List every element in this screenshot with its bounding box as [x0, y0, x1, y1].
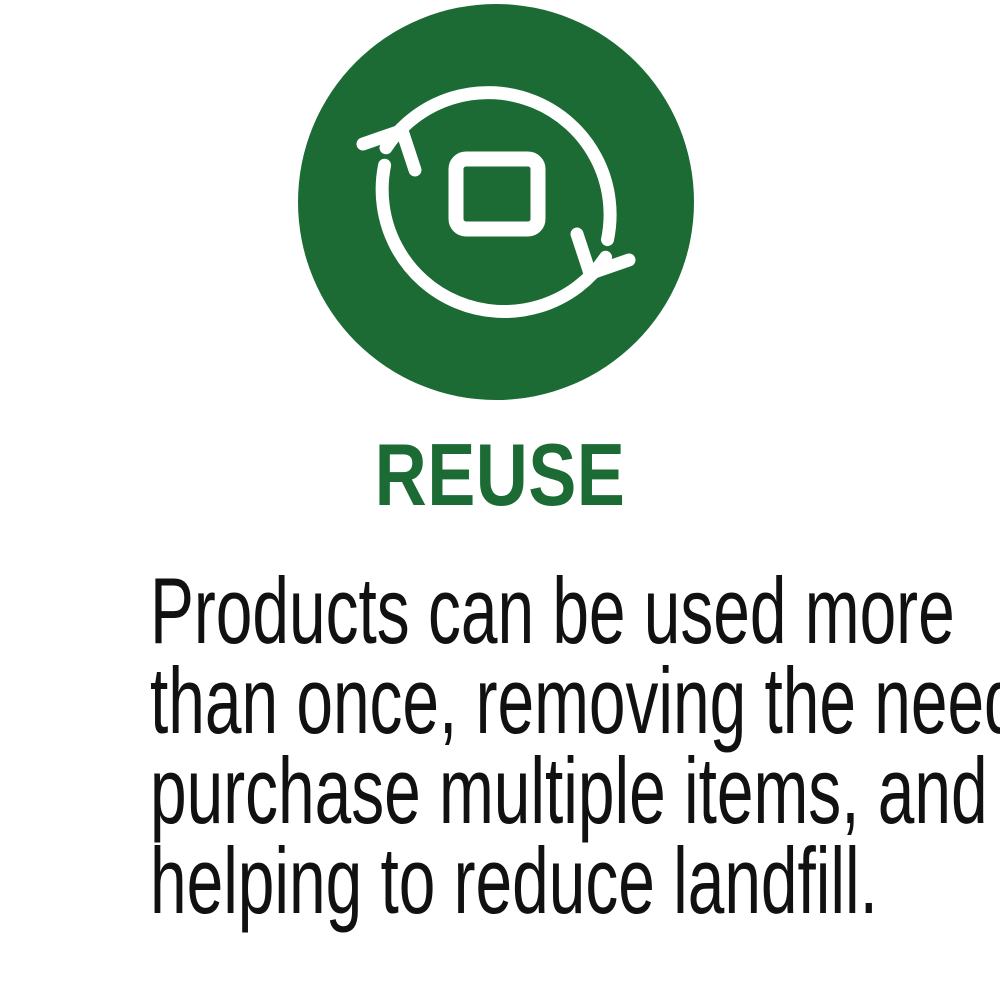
- description-text: Products can be used more than once, rem…: [0, 566, 1000, 926]
- reuse-info-card: REUSE Products can be used more than onc…: [0, 0, 1000, 1000]
- description-line-4: helping to reduce landfill.: [150, 836, 850, 926]
- page-title: REUSE: [90, 431, 910, 519]
- description-line-3: purchase multiple items, and: [150, 746, 850, 836]
- reuse-loop-icon: [297, 4, 695, 400]
- reuse-icon-badge: [297, 4, 695, 400]
- description-line-2: than once, removing the need to: [150, 656, 850, 746]
- badge-circle: [298, 4, 694, 400]
- description-line-1: Products can be used more: [150, 566, 850, 656]
